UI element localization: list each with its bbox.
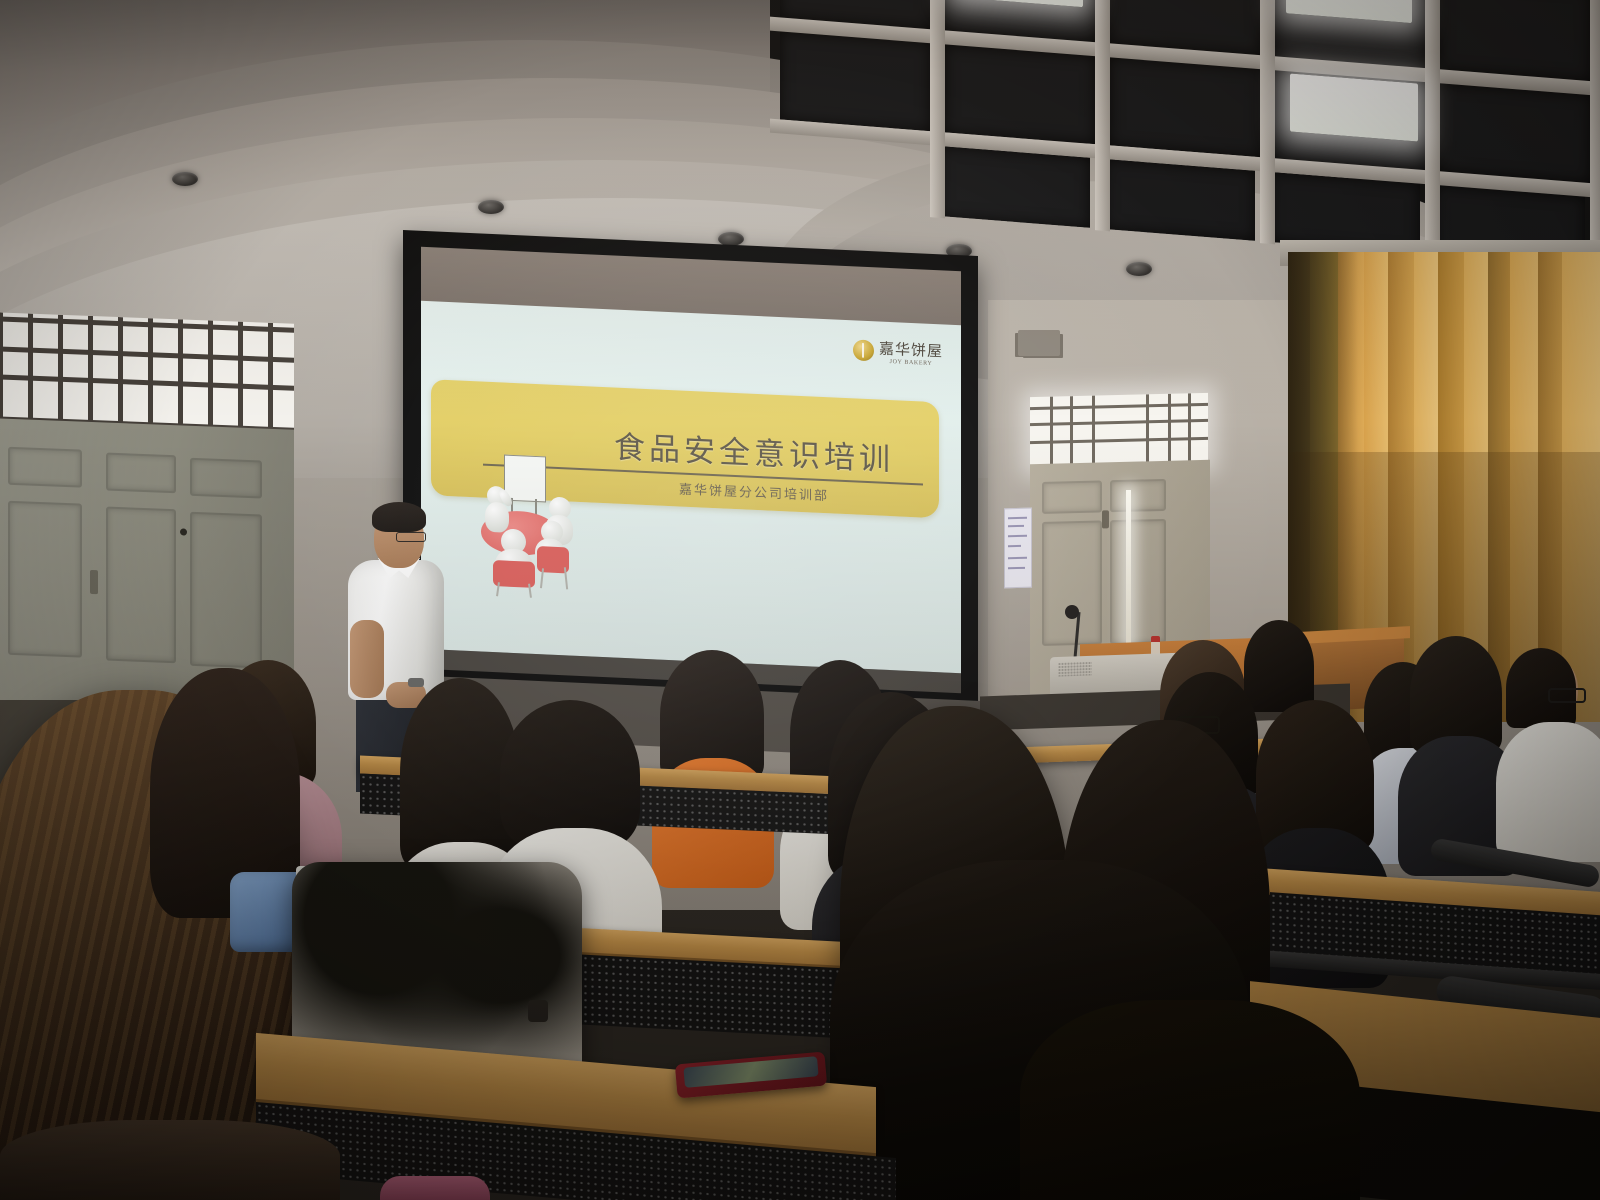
meeting-clipart <box>471 451 589 596</box>
logo-english-text: JOY BAKERY <box>890 359 933 367</box>
eyeglasses-icon <box>1548 688 1586 703</box>
presentation-slide: 嘉华饼屋 JOY BAKERY 食品安全意识培训 嘉华饼屋分公司培训部 <box>421 301 961 674</box>
pink-fabric <box>380 1176 490 1200</box>
brand-logo: 嘉华饼屋 JOY BAKERY <box>853 336 943 367</box>
door-handle-icon[interactable] <box>90 570 98 594</box>
speaker-bracket-icon <box>1018 330 1060 356</box>
presenter-arm <box>350 620 384 698</box>
lectern-speaker-grille <box>1058 661 1092 676</box>
presenter-hair <box>372 502 426 532</box>
right-transom-window <box>1030 393 1208 469</box>
whiteboard-icon <box>504 455 546 503</box>
wristwatch-icon <box>408 678 424 687</box>
wheat-emblem-icon <box>853 339 874 361</box>
backpack-buckle-icon <box>528 1000 548 1022</box>
downlight-icon <box>1126 262 1152 276</box>
downlight-icon <box>478 200 504 214</box>
projection-screen: 嘉华饼屋 JOY BAKERY 食品安全意识培训 嘉华饼屋分公司培训部 <box>403 230 978 708</box>
foreground-shoulder <box>0 1120 340 1200</box>
lecture-hall-photo: 嘉华饼屋 JOY BAKERY 食品安全意识培训 嘉华饼屋分公司培训部 <box>0 0 1600 1200</box>
logo-chinese-text: 嘉华饼屋 <box>879 338 943 362</box>
eyeglasses-icon <box>396 532 426 542</box>
left-transom-window <box>0 312 294 436</box>
door-keyhole-icon <box>180 528 187 535</box>
door-handle-icon[interactable] <box>1102 510 1109 528</box>
fluorescent-tube-icon <box>1290 74 1418 142</box>
bottle-cap-icon <box>1151 636 1160 642</box>
microphone-icon <box>1065 605 1079 619</box>
downlight-icon <box>172 172 198 186</box>
wall-notice <box>1004 508 1032 589</box>
